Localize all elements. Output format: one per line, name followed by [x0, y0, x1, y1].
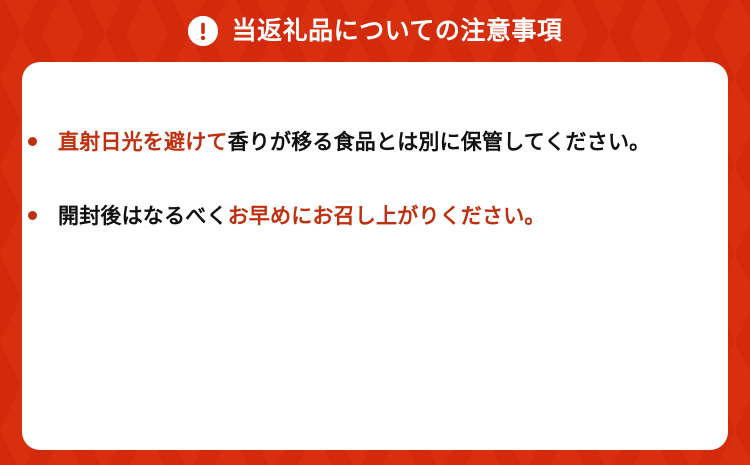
notice-list: 直射日光を避けて香りが移る食品とは別に保管してください。 開封後はなるべくお早め…	[28, 128, 732, 233]
page-title: 当返礼品についての注意事項	[232, 19, 563, 44]
notice-banner: 当返礼品についての注意事項 直射日光を避けて香りが移る食品とは別に保管してくださ…	[0, 0, 750, 465]
list-item: 開封後はなるべくお早めにお召し上がりください。	[28, 202, 732, 232]
note-text: 開封後はなるべくお早めにお召し上がりください。	[58, 202, 546, 232]
exclamation-circle-icon	[188, 16, 218, 46]
note-segment-normal: 開封後はなるべく	[58, 205, 228, 228]
bullet-icon	[28, 202, 58, 220]
note-text: 直射日光を避けて香りが移る食品とは別に保管してください。	[58, 128, 650, 158]
banner-header: 当返礼品についての注意事項	[0, 0, 750, 62]
bullet-icon	[28, 128, 58, 146]
notice-card	[22, 62, 728, 450]
note-segment-emphasis: 直射日光を避けて	[58, 131, 228, 154]
list-item: 直射日光を避けて香りが移る食品とは別に保管してください。	[28, 128, 732, 158]
note-segment-emphasis: お早めにお召し上がりください。	[228, 205, 546, 228]
note-segment-normal: 香りが移る食品とは別に保管してください。	[228, 131, 651, 154]
